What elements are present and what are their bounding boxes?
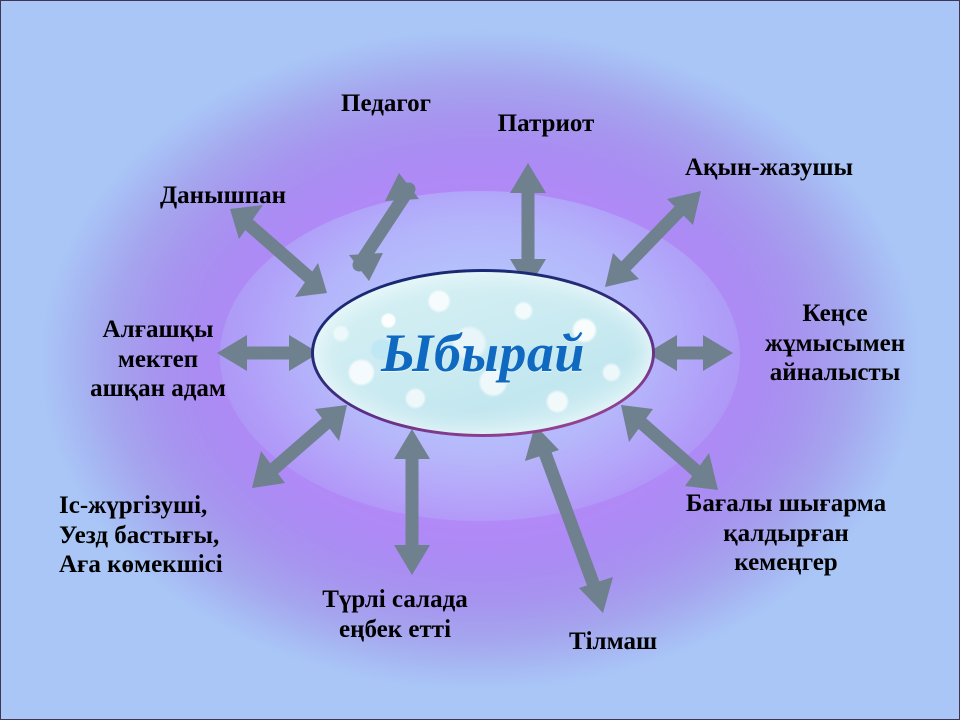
label-akyn-zhazushy[interactable]: Ақын-жазушы bbox=[639, 153, 899, 183]
arrow-to-pedagog bbox=[349, 173, 419, 281]
label-algashky[interactable]: Алғашқы мектеп ашқан адам bbox=[49, 315, 267, 404]
center-title: Ыбырай bbox=[381, 322, 585, 384]
slide-canvas: Ыбырай Педагог Патриот Ақын-жазушы Даныш… bbox=[0, 0, 960, 720]
label-is-zhurgizushi[interactable]: Іс-жүргізуші, Уезд бастығы, Аға көмекшіс… bbox=[59, 491, 329, 580]
arrow-to-tilmash bbox=[525, 425, 613, 613]
center-node[interactable]: Ыбырай bbox=[311, 269, 655, 437]
center-node-border: Ыбырай bbox=[311, 269, 655, 437]
label-tilmash[interactable]: Тілмаш bbox=[533, 627, 693, 657]
arrow-to-turli-salada bbox=[394, 429, 430, 575]
label-patriot[interactable]: Патриот bbox=[456, 109, 636, 139]
label-bagaly[interactable]: Бағалы шығарма қалдырған кемеңгер bbox=[631, 489, 941, 578]
label-kense[interactable]: Кеңсе жұмысымен айналысты bbox=[719, 299, 951, 388]
center-node-fill: Ыбырай bbox=[314, 272, 652, 434]
label-pedagog[interactable]: Педагог bbox=[296, 89, 476, 119]
label-turli-salada[interactable]: Түрлі салада еңбек етті bbox=[275, 585, 515, 644]
label-danyshpan[interactable]: Данышпан bbox=[113, 181, 333, 211]
